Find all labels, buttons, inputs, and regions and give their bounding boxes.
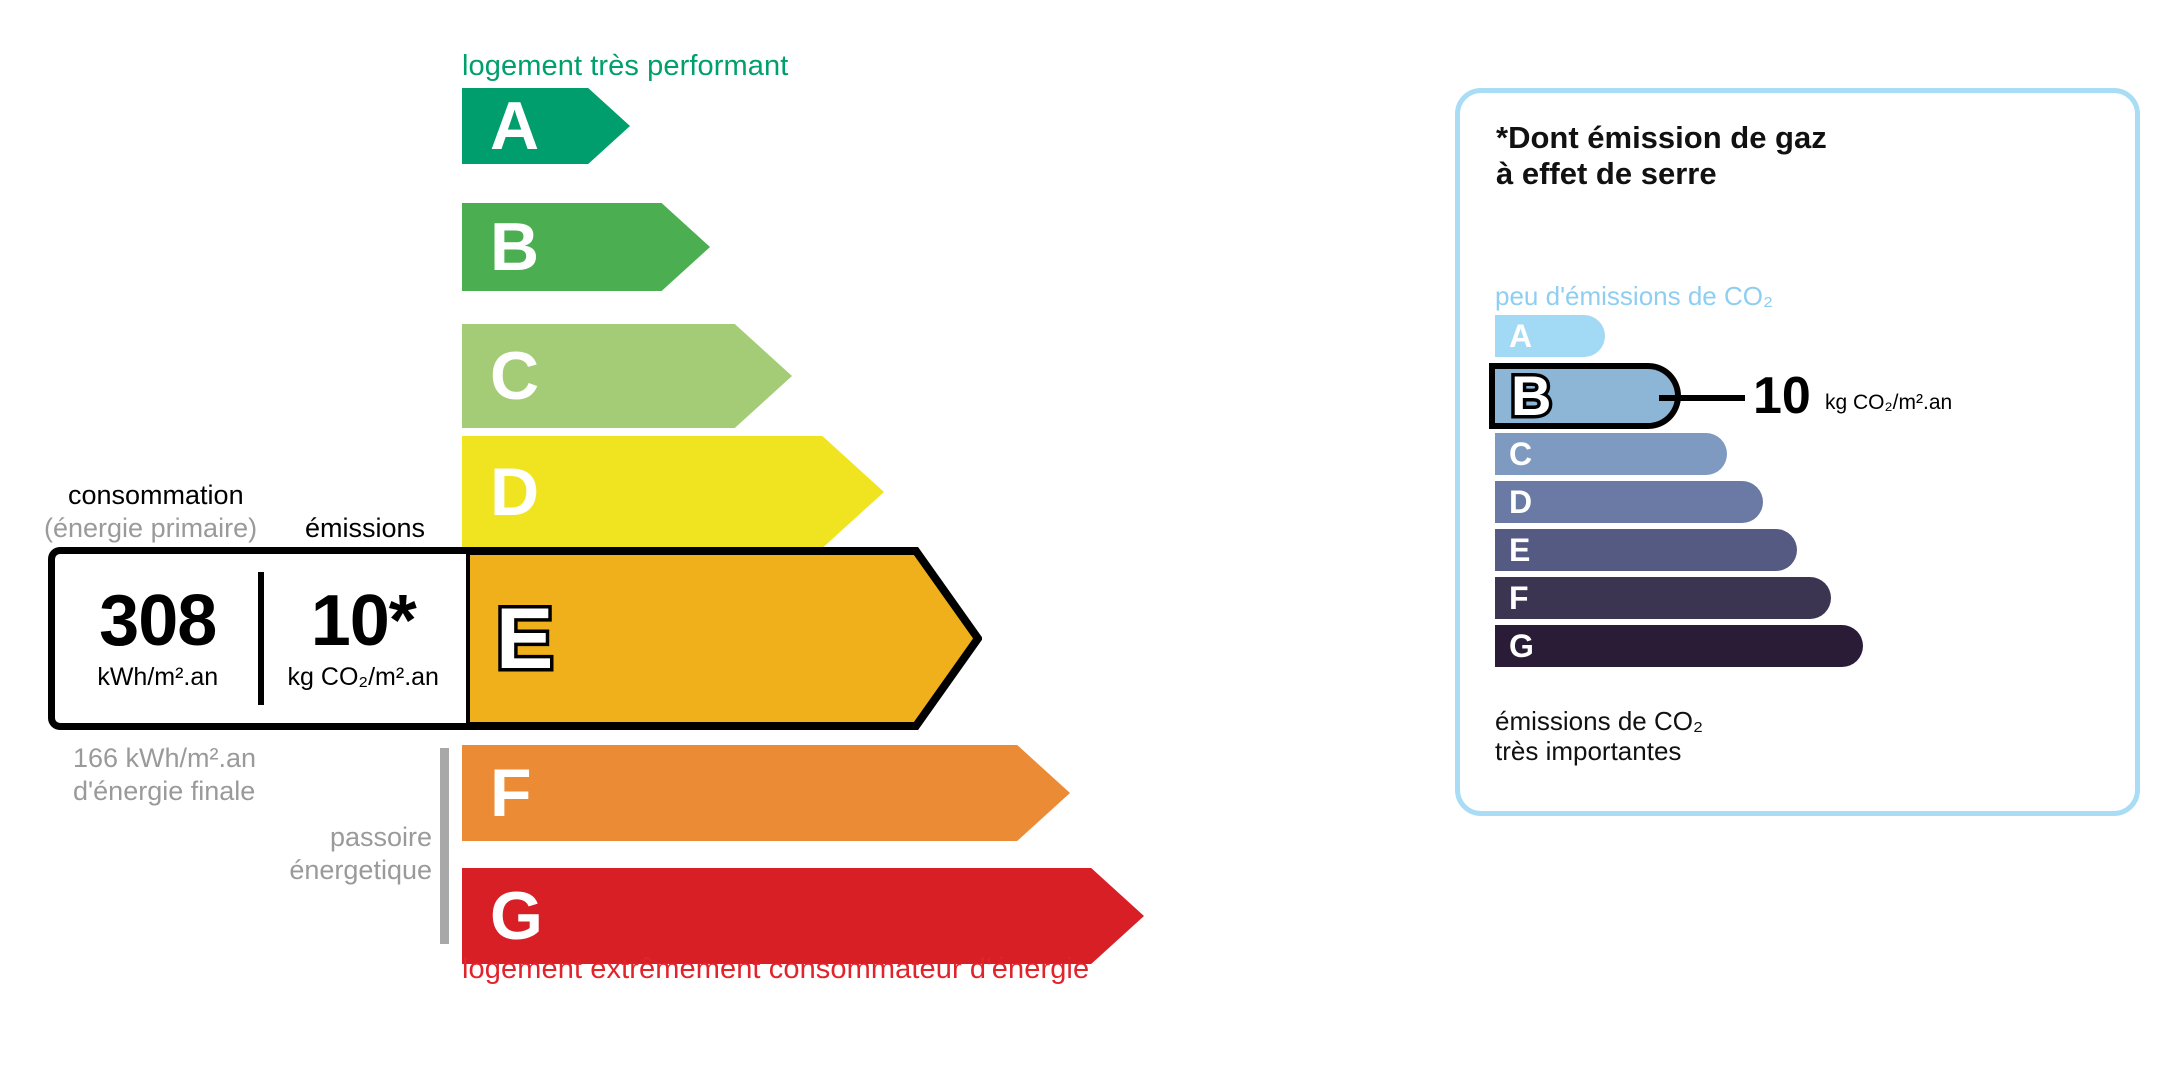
co2-band-a: A [1495, 315, 2115, 357]
energy-band-letter-g: G [490, 882, 543, 950]
energy-band-e: E [462, 547, 982, 730]
energy-scale-bottom-caption: logement extrêmement consommateur d'éner… [462, 953, 1089, 986]
co2-band-letter-e: E [1509, 534, 1530, 566]
energy-band-letter-f: F [490, 759, 532, 827]
value-readout-box: 308 kWh/m².an 10* kg CO₂/m².an [48, 547, 466, 730]
energy-band-arrow-shape [462, 868, 1144, 964]
co2-bar-shape [1495, 625, 1863, 667]
passoire-bracket-bar [440, 748, 449, 944]
consumption-unit: kWh/m².an [97, 663, 218, 692]
co2-band-letter-g: G [1509, 630, 1534, 662]
co2-callout-value: 10 [1753, 363, 1811, 429]
energy-band-b: B [462, 203, 710, 291]
energy-band-stack: ABCDEFG [462, 0, 1262, 1079]
co2-callout-leader-line [1659, 395, 1745, 401]
energy-band-letter-d: D [490, 458, 539, 526]
co2-band-letter-c: C [1509, 438, 1532, 470]
energy-band-a: A [462, 88, 630, 164]
co2-band-letter-b: B [1511, 368, 1551, 424]
co2-bar-shape [1495, 481, 1763, 523]
energy-band-arrow-shape [462, 88, 630, 164]
passoire-energetique-annotation: passoire énergetique [0, 0, 432, 1079]
co2-band-e: E [1495, 529, 2115, 571]
co2-band-letter-f: F [1509, 582, 1529, 614]
energy-band-d: D [462, 436, 884, 548]
passoire-line2: énergetique [289, 855, 432, 886]
co2-band-c: C [1495, 433, 2115, 475]
co2-band-letter-d: D [1509, 486, 1532, 518]
co2-callout-unit: kg CO₂/m².an [1825, 363, 1952, 443]
energy-band-letter-b: B [490, 213, 539, 281]
consumption-value-cell: 308 kWh/m².an [55, 554, 261, 723]
co2-band-g: G [1495, 625, 2115, 667]
energy-band-letter-e: E [496, 596, 553, 682]
co2-band-d: D [1495, 481, 2115, 523]
consumption-value: 308 [99, 585, 216, 657]
emission-unit: kg CO₂/m².an [288, 663, 439, 692]
co2-emission-panel: *Dont émission de gaz à effet de serre p… [1455, 88, 2140, 816]
co2-bar-shape [1495, 529, 1797, 571]
energy-band-letter-c: C [490, 342, 539, 410]
co2-top-label: peu d'émissions de CO₂ [1495, 281, 1773, 312]
co2-band-b: B10kg CO₂/m².an [1495, 363, 2115, 429]
energy-band-f: F [462, 745, 1070, 841]
co2-panel-title: *Dont émission de gaz à effet de serre [1496, 120, 1827, 193]
passoire-line1: passoire [330, 822, 432, 853]
energy-performance-diagram: logement très performant ABCDEFG consomm… [0, 0, 1400, 1079]
energy-band-letter-a: A [490, 92, 539, 160]
energy-band-arrow-shape [462, 745, 1070, 841]
emission-value: 10* [311, 585, 416, 657]
co2-band-letter-a: A [1509, 320, 1532, 352]
co2-band-f: F [1495, 577, 2115, 619]
energy-band-c: C [462, 324, 792, 428]
co2-bottom-label: émissions de CO₂ très importantes [1495, 706, 1703, 767]
co2-bar-stack: AB10kg CO₂/m².anCDEFG [1495, 315, 2115, 673]
emission-value-cell: 10* kg CO₂/m².an [261, 554, 467, 723]
energy-band-g: G [462, 868, 1144, 964]
co2-bar-shape [1495, 577, 1831, 619]
